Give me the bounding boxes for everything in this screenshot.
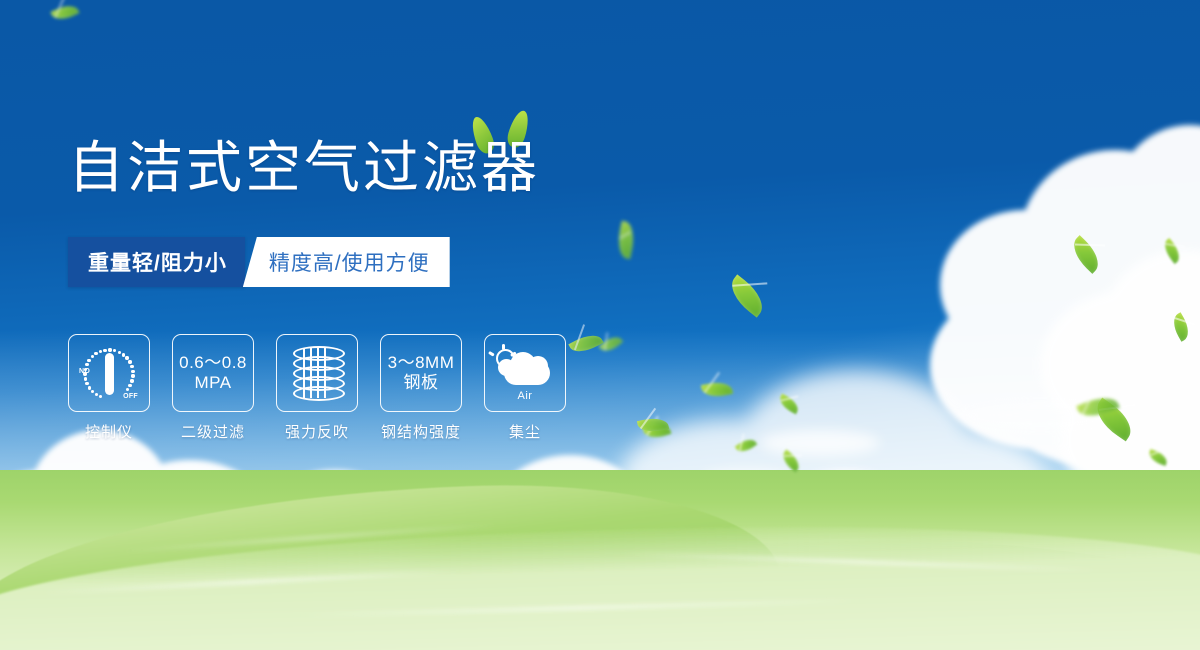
floating-leaf <box>614 221 637 260</box>
feature-label: 钢结构强度 <box>381 421 461 442</box>
subtitle-bar: 重量轻/阻力小 精度高/使用方便 <box>68 237 450 287</box>
feature-item-secondary-filter[interactable]: 0.6～0.8 MPA 二级过滤 <box>172 334 254 442</box>
feature-icon-box: NO OFF <box>68 334 150 412</box>
feature-item-steel-strength[interactable]: 3～8MM 钢板 钢结构强度 <box>380 334 462 442</box>
subtitle-right-tag: 精度高/使用方便 <box>243 237 450 287</box>
air-cloud-icon: Air <box>494 347 556 399</box>
feature-icon-box: 0.6～0.8 MPA <box>172 334 254 412</box>
feature-item-blowback[interactable]: 强力反吹 <box>276 334 358 442</box>
feature-label: 集尘 <box>509 421 541 442</box>
gauge-off-label: OFF <box>123 393 138 400</box>
floating-leaf <box>724 274 771 317</box>
steel-value-line1: 3～8MM <box>388 353 455 373</box>
feature-icon-box <box>276 334 358 412</box>
product-banner: 自洁式空气过滤器 重量轻/阻力小 精度高/使用方便 NO OFF 控制仪 0.6… <box>0 0 1200 650</box>
cloud-wisp-1 <box>760 430 880 456</box>
steel-value-line2: 钢板 <box>404 373 439 393</box>
coil-filter-icon <box>291 344 343 402</box>
gauge-icon: NO OFF <box>79 344 139 402</box>
feature-icon-box: 3～8MM 钢板 <box>380 334 462 412</box>
subtitle-left-tag: 重量轻/阻力小 <box>68 237 245 287</box>
floating-leaf <box>50 1 79 24</box>
feature-list: NO OFF 控制仪 0.6～0.8 MPA 二级过滤 <box>68 334 566 442</box>
feature-label: 强力反吹 <box>285 421 349 442</box>
feature-label: 二级过滤 <box>181 421 245 442</box>
page-title: 自洁式空气过滤器 <box>68 140 540 196</box>
feature-label: 控制仪 <box>85 421 133 442</box>
pressure-value-line2: MPA <box>194 373 231 393</box>
air-caption: Air <box>494 390 556 402</box>
feature-icon-box: Air <box>484 334 566 412</box>
pressure-value-line1: 0.6～0.8 <box>179 353 247 373</box>
feature-item-dust-collection[interactable]: Air 集尘 <box>484 334 566 442</box>
feature-item-controller[interactable]: NO OFF 控制仪 <box>68 334 150 442</box>
